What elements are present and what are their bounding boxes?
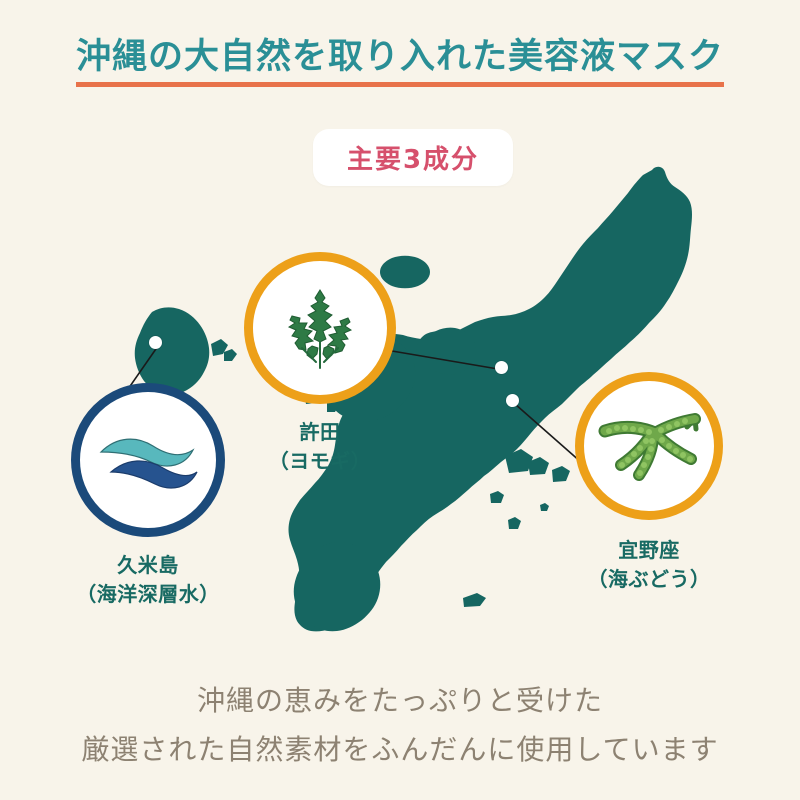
kyoda-circle xyxy=(244,252,396,404)
ginoza-label: 宜野座 （海ぶどう） xyxy=(575,536,723,594)
ginoza-place: 宜野座 xyxy=(618,538,680,562)
wave-icon xyxy=(93,420,203,500)
infographic-root: 久米島 （海洋深層水） xyxy=(0,0,800,800)
line-kyoda xyxy=(392,351,498,369)
footer-line-1: 沖縄の恵みをたっぷりと受けた xyxy=(0,676,800,725)
kumejima-circle xyxy=(71,383,225,537)
kumejima-place: 久米島 xyxy=(117,553,179,577)
footer-line-2: 厳選された自然素材をふんだんに使用しています xyxy=(0,725,800,774)
sea-grapes-icon xyxy=(595,403,703,489)
mugwort-leaf-icon xyxy=(268,276,372,380)
main-ingredients-badge-label: 主要3成分 xyxy=(347,139,479,176)
ginoza-circle xyxy=(575,372,723,520)
ginoza-marker[interactable] xyxy=(506,394,519,407)
kumejima-ingredient: （海洋深層水） xyxy=(76,582,220,606)
callout-kumejima[interactable]: 久米島 （海洋深層水） xyxy=(71,383,225,609)
footer-description: 沖縄の恵みをたっぷりと受けた 厳選された自然素材をふんだんに使用しています xyxy=(0,676,800,774)
kyoda-place: 許田 xyxy=(300,420,341,444)
kyoda-ingredient: （ヨモギ） xyxy=(269,449,372,473)
kyoda-label: 許田 （ヨモギ） xyxy=(244,418,396,476)
callout-kyoda[interactable]: 許田 （ヨモギ） xyxy=(244,252,396,476)
kyoda-marker[interactable] xyxy=(495,361,508,374)
ginoza-ingredient: （海ぶどう） xyxy=(588,567,711,591)
page-title-text: 沖縄の大自然を取り入れた美容液マスク xyxy=(76,36,724,87)
kumejima-marker[interactable] xyxy=(149,336,162,349)
callout-ginoza[interactable]: 宜野座 （海ぶどう） xyxy=(575,372,723,594)
page-title: 沖縄の大自然を取り入れた美容液マスク xyxy=(0,36,800,87)
kumejima-label: 久米島 （海洋深層水） xyxy=(71,551,225,609)
main-ingredients-badge: 主要3成分 xyxy=(313,129,513,186)
